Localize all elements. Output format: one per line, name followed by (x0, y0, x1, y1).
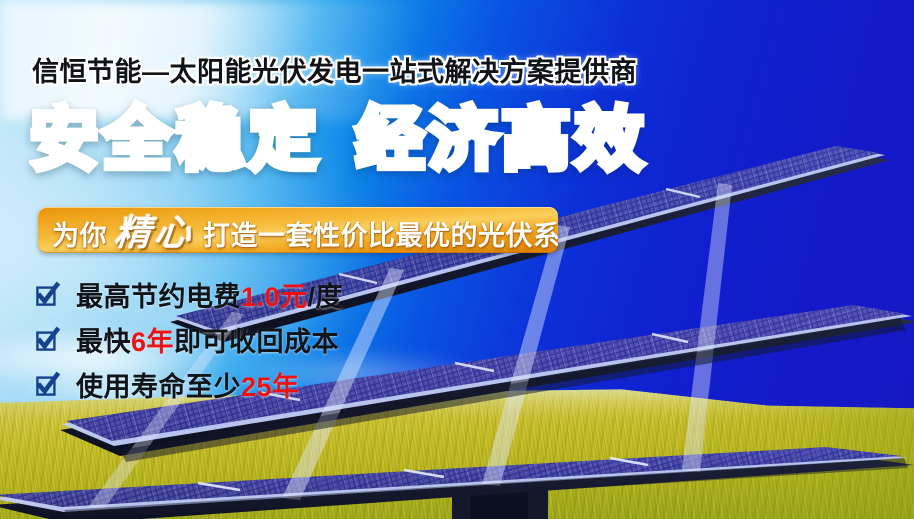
bullet-prefix: 使用寿命至少 (76, 372, 241, 402)
page-title: 信恒节能—太阳能光伏发电一站式解决方案提供商 (32, 50, 637, 89)
main-headline: 安全稳定经济高效 (30, 106, 648, 174)
list-item-text: 最快6年即可收回成本 (76, 320, 339, 359)
bullet-suffix: /度 (308, 282, 344, 312)
benefit-list: 最高节约电费1.0元/度 最快6年即可收回成本 使用 (36, 272, 343, 407)
bullet-highlight: 6年 (131, 327, 174, 357)
solar-energy-promo-banner: 信恒节能—太阳能光伏发电一站式解决方案提供商 安全稳定经济高效 为你 精心 打造… (0, 0, 914, 519)
bullet-prefix: 最快 (76, 327, 131, 357)
headline-part-safe-stable: 安全稳定 (30, 106, 322, 174)
tagline-prefix: 为你 (52, 214, 107, 253)
list-item: 使用寿命至少25年 (36, 362, 343, 407)
bullet-highlight: 1.0元 (241, 282, 308, 312)
bullet-suffix: 即可收回成本 (174, 327, 339, 357)
list-item-text: 最高节约电费1.0元/度 (76, 275, 343, 314)
tagline-text: 为你 精心 打造一套性价比最优的光伏系统 (38, 207, 558, 253)
tagline-script-emphasis: 精心 (104, 207, 205, 253)
bullet-highlight: 25年 (241, 372, 300, 402)
bullet-prefix: 最高节约电费 (76, 282, 241, 312)
checkbox-checked-icon (36, 284, 58, 306)
list-item-text: 使用寿命至少25年 (76, 365, 300, 404)
checkbox-checked-icon (36, 329, 58, 351)
checkbox-checked-icon (36, 374, 58, 396)
list-item: 最快6年即可收回成本 (36, 317, 343, 362)
tagline-ribbon: 为你 精心 打造一套性价比最优的光伏系统 (38, 207, 558, 253)
list-item: 最高节约电费1.0元/度 (36, 272, 343, 317)
tagline-suffix: 打造一套性价比最优的光伏系统 (203, 214, 558, 253)
headline-part-economic-efficient: 经济高效 (356, 106, 648, 174)
